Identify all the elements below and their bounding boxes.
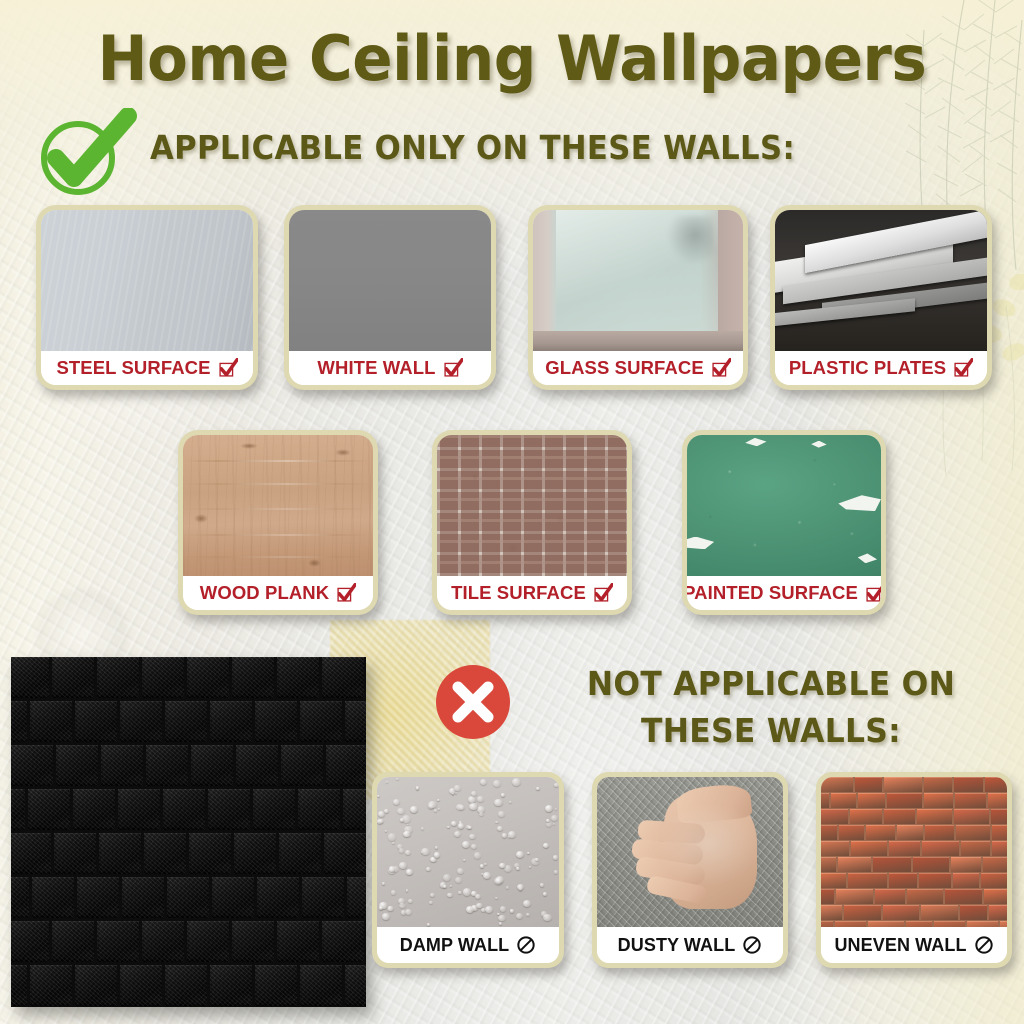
- card-label: TILE SURFACE: [437, 576, 627, 610]
- check-mark-box-icon: [218, 358, 238, 378]
- black-3d-brick-wallpaper-panel: [11, 657, 366, 1007]
- prohibited-slash-icon: [742, 935, 762, 955]
- surface-card-tile[interactable]: TILE SURFACE: [432, 430, 632, 615]
- card-label-text: DAMP WALL: [400, 935, 510, 956]
- page-title: Home Ceiling Wallpapers: [20, 22, 1003, 95]
- card-label: WHITE WALL: [289, 351, 491, 385]
- card-label: PLASTIC PLATES: [775, 351, 987, 385]
- steel-surface-photo: [41, 210, 253, 351]
- card-label: PAINTED SURFACE: [687, 576, 881, 610]
- surface-card-wood-plank[interactable]: WOOD PLANK: [178, 430, 378, 615]
- card-label-text: WHITE WALL: [317, 357, 435, 379]
- card-label-text: WOOD PLANK: [200, 582, 329, 604]
- surface-card-steel[interactable]: STEEL SURFACE: [36, 205, 258, 390]
- surface-card-painted[interactable]: PAINTED SURFACE: [682, 430, 886, 615]
- dusty-wall-photo: [597, 777, 783, 927]
- applicable-heading: APPLICABLE ONLY ON THESE WALLS:: [150, 128, 795, 167]
- check-mark-box-icon: [865, 583, 881, 603]
- card-label-text: TILE SURFACE: [451, 582, 586, 604]
- card-label: DUSTY WALL: [597, 927, 783, 963]
- check-mark-box-icon: [443, 358, 463, 378]
- card-label-text: GLASS SURFACE: [545, 357, 704, 379]
- wood-plank-photo: [183, 435, 373, 576]
- card-label: GLASS SURFACE: [533, 351, 743, 385]
- surface-card-white-wall[interactable]: WHITE WALL: [284, 205, 496, 390]
- not-applicable-heading-line2: THESE WALLS:: [548, 707, 995, 754]
- surface-card-damp-wall[interactable]: DAMP WALL: [372, 772, 564, 968]
- check-mark-box-icon: [593, 583, 613, 603]
- plastic-plates-photo: [775, 210, 987, 351]
- card-label: UNEVEN WALL: [821, 927, 1007, 963]
- green-check-circle-icon: [32, 108, 142, 200]
- surface-card-glass[interactable]: GLASS SURFACE: [528, 205, 748, 390]
- not-applicable-heading: NOT APPLICABLE ON THESE WALLS:: [548, 660, 995, 754]
- prohibited-slash-icon: [516, 935, 536, 955]
- card-label: DAMP WALL: [377, 927, 559, 963]
- surface-card-plastic-plates[interactable]: PLASTIC PLATES: [770, 205, 992, 390]
- check-mark-box-icon: [711, 358, 731, 378]
- card-label-text: UNEVEN WALL: [834, 935, 966, 956]
- card-label-text: PAINTED SURFACE: [687, 582, 858, 604]
- card-label-text: DUSTY WALL: [618, 935, 736, 956]
- card-label-text: PLASTIC PLATES: [789, 357, 946, 379]
- prohibited-slash-icon: [974, 935, 994, 955]
- card-label: STEEL SURFACE: [41, 351, 253, 385]
- glass-surface-photo: [533, 210, 743, 351]
- not-applicable-heading-line1: NOT APPLICABLE ON: [548, 660, 995, 707]
- check-mark-box-icon: [336, 583, 356, 603]
- uneven-brick-wall-photo: [821, 777, 1007, 927]
- red-x-circle-icon: [434, 663, 512, 741]
- check-mark-box-icon: [953, 358, 973, 378]
- surface-card-dusty-wall[interactable]: DUSTY WALL: [592, 772, 788, 968]
- tile-surface-photo: [437, 435, 627, 576]
- white-wall-photo: [289, 210, 491, 351]
- painted-surface-photo: [687, 435, 881, 576]
- card-label-text: STEEL SURFACE: [56, 357, 210, 379]
- surface-card-uneven-wall[interactable]: UNEVEN WALL: [816, 772, 1012, 968]
- damp-wall-photo: [377, 777, 559, 927]
- card-label: WOOD PLANK: [183, 576, 373, 610]
